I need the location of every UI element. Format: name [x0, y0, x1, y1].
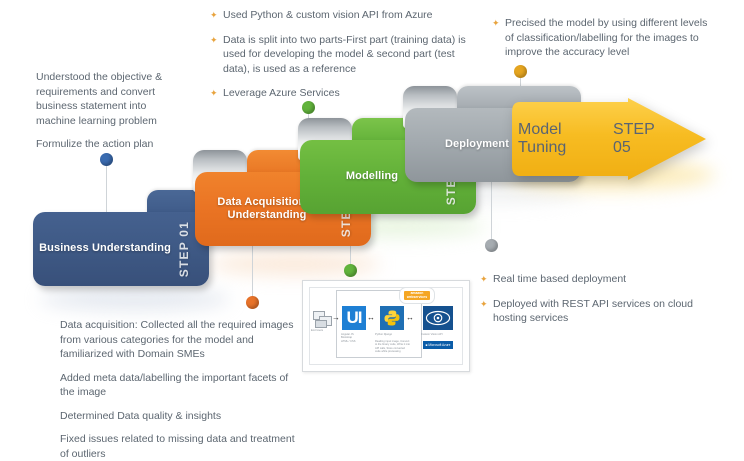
- note-data-acquisition: Data acquisition: Collected all the requ…: [60, 318, 300, 461]
- arch-ui-caption: Angular JSBootstrapHTML / CSS: [341, 333, 367, 343]
- arch-aws-label: amazonwebservices: [404, 291, 430, 300]
- architecture-diagram-image[interactable]: End Users → UI Angular JSBootstrapHTML /…: [302, 280, 470, 372]
- note-acq-line-2: Added meta data/labelling the important …: [60, 371, 300, 400]
- bullet-marker-icon: ✦: [480, 272, 493, 287]
- bullet-item: ✦ Data is split into two parts-First par…: [210, 33, 470, 77]
- arch-python-node: [380, 306, 404, 330]
- bullet-text: Used Python & custom vision API from Azu…: [223, 8, 470, 23]
- connector-dot-step-05: [514, 65, 527, 78]
- connector-dot-step-03: [302, 101, 315, 114]
- arch-arrow-3-icon: ↔: [406, 314, 414, 322]
- connector-dot-step-04: [485, 239, 498, 252]
- glow-blue: [40, 288, 230, 310]
- note-business-understanding: Understood the objective & requirements …: [36, 70, 186, 152]
- bullet-marker-icon: ✦: [492, 16, 505, 60]
- bullet-item: ✦ Precised the model by using different …: [492, 16, 710, 60]
- bullet-marker-icon: ✦: [210, 86, 223, 101]
- arch-azure-label: ■ Microsoft Azure: [426, 343, 451, 347]
- note-business-line-2: Formulize the action plan: [36, 137, 186, 152]
- arch-eye-icon: [423, 306, 453, 330]
- arch-custom-vision-caption: Custom Vision API: [421, 333, 455, 336]
- bullet-text: Precised the model by using different le…: [505, 16, 710, 60]
- step-05-content[interactable]: Model Tuning STEP 05: [510, 96, 680, 182]
- step-01-label: Business Understanding: [33, 242, 177, 256]
- arch-end-user-caption: End Users: [311, 329, 335, 332]
- step-05-block[interactable]: Model Tuning STEP 05: [510, 96, 708, 182]
- bullet-item: ✦ Leverage Azure Services: [210, 86, 470, 101]
- bullet-item: ✦ Deployed with REST API services on clo…: [480, 297, 710, 326]
- arch-aws-cloud: amazonwebservices: [399, 287, 435, 304]
- arch-azure-badge: ■ Microsoft Azure: [423, 341, 453, 349]
- arch-end-user-icon: [313, 311, 333, 327]
- note-acq-line-1: Data acquisition: Collected all the requ…: [60, 318, 300, 362]
- step-05-label: Model Tuning: [510, 121, 613, 157]
- bullet-item: ✦ Used Python & custom vision API from A…: [210, 8, 470, 23]
- step-01-block[interactable]: Business Understanding STEP 01: [33, 212, 209, 286]
- connector-stem-step-04: [491, 178, 492, 246]
- arch-python-caption: Python DjangoReading input image, Conver…: [375, 333, 411, 353]
- diagram-canvas: Business Understanding STEP 01 Data Acqu…: [0, 0, 744, 447]
- bullets-model-tuning: ✦ Precised the model by using different …: [492, 16, 710, 60]
- bullets-modelling: ✦ Used Python & custom vision API from A…: [210, 8, 470, 101]
- bullet-marker-icon: ✦: [210, 33, 223, 77]
- note-business-line-1: Understood the objective & requirements …: [36, 70, 186, 128]
- arch-custom-vision-node: [423, 306, 453, 330]
- bullet-item: ✦ Real time based deployment: [480, 272, 710, 287]
- bullet-marker-icon: ✦: [480, 297, 493, 326]
- connector-dot-step-02: [246, 296, 259, 309]
- bullet-text: Real time based deployment: [493, 272, 710, 287]
- bullet-marker-icon: ✦: [210, 8, 223, 23]
- connector-dot-step-03-lower: [344, 264, 357, 277]
- step-05-number: STEP 05: [613, 121, 676, 157]
- step-01-slab[interactable]: Business Understanding STEP 01: [33, 212, 209, 286]
- bullets-deployment: ✦ Real time based deployment ✦ Deployed …: [480, 272, 710, 326]
- arch-arrow-2-icon: ↔: [367, 314, 375, 322]
- arch-arrow-1-icon: →: [332, 314, 340, 322]
- connector-dot-step-01: [100, 153, 113, 166]
- bullet-text: Leverage Azure Services: [223, 86, 470, 101]
- arch-ui-node: UI: [342, 306, 366, 330]
- bullet-text: Deployed with REST API services on cloud…: [493, 297, 710, 326]
- note-acq-line-3: Determined Data quality & insights: [60, 409, 300, 424]
- bullet-text: Data is split into two parts-First part …: [223, 33, 470, 77]
